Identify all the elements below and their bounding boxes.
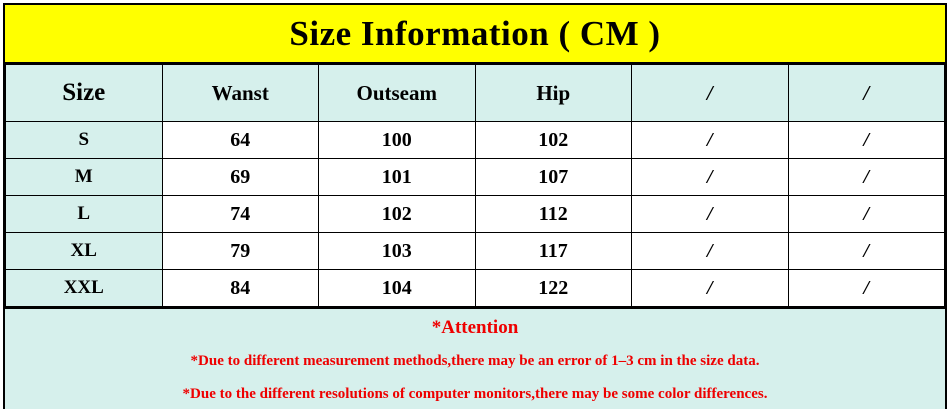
- column-header-blank-1: /: [632, 65, 789, 122]
- table-row: XL 79 103 117 / /: [6, 233, 945, 270]
- cell-outseam: 101: [319, 159, 476, 196]
- cell-blank-1: /: [632, 233, 789, 270]
- cell-waist: 69: [162, 159, 319, 196]
- cell-waist: 79: [162, 233, 319, 270]
- cell-size: S: [6, 122, 163, 159]
- cell-waist: 64: [162, 122, 319, 159]
- table-header-row: Size Wanst Outseam Hip / /: [6, 65, 945, 122]
- cell-size: XL: [6, 233, 163, 270]
- table-row: M 69 101 107 / /: [6, 159, 945, 196]
- cell-outseam: 103: [319, 233, 476, 270]
- chart-title-band: Size Information ( CM ): [5, 5, 945, 64]
- cell-outseam: 100: [319, 122, 476, 159]
- table-row: XXL 84 104 122 / /: [6, 270, 945, 307]
- column-header-hip: Hip: [475, 65, 632, 122]
- cell-outseam: 102: [319, 196, 476, 233]
- cell-blank-1: /: [632, 270, 789, 307]
- column-header-outseam: Outseam: [319, 65, 476, 122]
- cell-size: L: [6, 196, 163, 233]
- cell-blank-2: /: [788, 122, 945, 159]
- cell-hip: 112: [475, 196, 632, 233]
- table-row: L 74 102 112 / /: [6, 196, 945, 233]
- cell-size: XXL: [6, 270, 163, 307]
- cell-waist: 74: [162, 196, 319, 233]
- attention-note-color: *Due to the different resolutions of com…: [5, 386, 945, 403]
- size-chart: Size Information ( CM ) Size Wanst Outse…: [3, 3, 947, 409]
- cell-blank-2: /: [788, 159, 945, 196]
- cell-blank-2: /: [788, 233, 945, 270]
- cell-blank-1: /: [632, 122, 789, 159]
- table-row: S 64 100 102 / /: [6, 122, 945, 159]
- cell-blank-1: /: [632, 159, 789, 196]
- column-header-blank-2: /: [788, 65, 945, 122]
- cell-blank-1: /: [632, 196, 789, 233]
- cell-waist: 84: [162, 270, 319, 307]
- column-header-size: Size: [6, 65, 163, 122]
- cell-hip: 107: [475, 159, 632, 196]
- cell-hip: 102: [475, 122, 632, 159]
- cell-hip: 117: [475, 233, 632, 270]
- cell-hip: 122: [475, 270, 632, 307]
- table-body: Size Wanst Outseam Hip / / S 64 100 102 …: [6, 65, 945, 307]
- page-title: Size Information ( CM ): [289, 14, 660, 54]
- cell-outseam: 104: [319, 270, 476, 307]
- attention-heading: *Attention: [5, 317, 945, 339]
- cell-blank-2: /: [788, 196, 945, 233]
- cell-blank-2: /: [788, 270, 945, 307]
- cell-size: M: [6, 159, 163, 196]
- attention-section: *Attention *Due to different measurement…: [5, 307, 945, 409]
- column-header-waist: Wanst: [162, 65, 319, 122]
- attention-note-measurement: *Due to different measurement methods,th…: [5, 353, 945, 370]
- size-information-table: Size Wanst Outseam Hip / / S 64 100 102 …: [5, 64, 945, 307]
